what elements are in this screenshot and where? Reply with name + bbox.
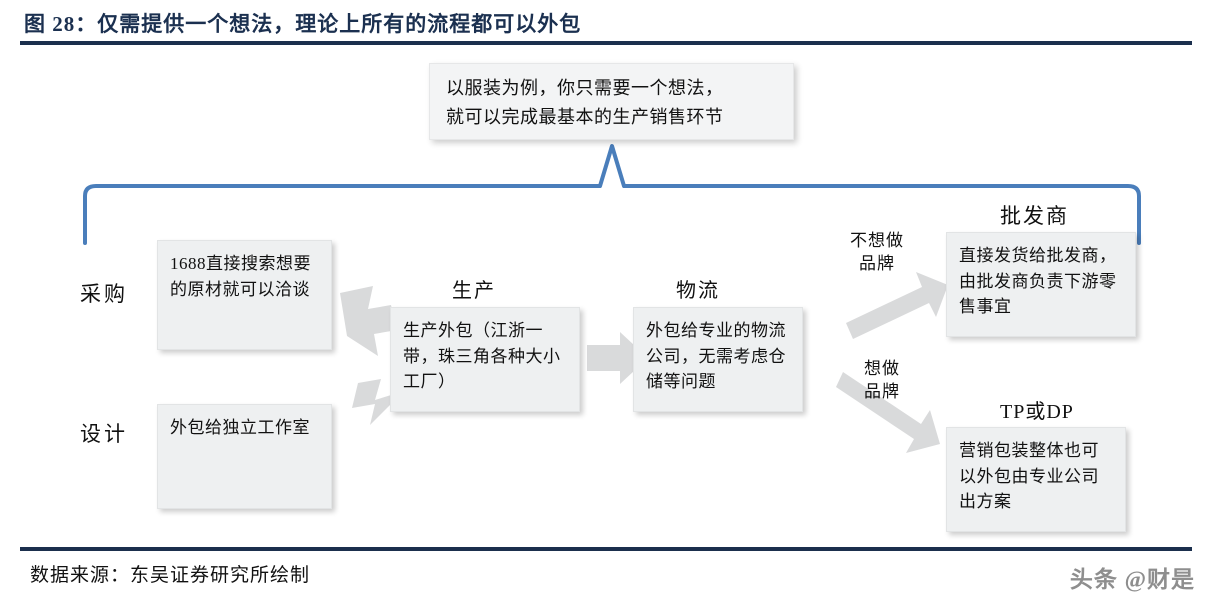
branch-label-no-brand-line-1: 不想做 <box>837 230 917 253</box>
title-divider <box>20 41 1192 45</box>
node-logistics-box: 外包给专业的物流公司，无需考虑仓储等问题 <box>633 307 803 412</box>
footer-divider <box>20 547 1192 551</box>
column-label-wholesaler: 批发商 <box>1000 200 1069 230</box>
arrow-logistics-to-wholesaler-icon <box>846 272 948 339</box>
source-note: 数据来源：东吴证券研究所绘制 <box>30 560 310 587</box>
column-label-tp-dp: TP或DP <box>1000 395 1074 424</box>
callout-line-2: 就可以完成最基本的生产销售环节 <box>446 103 777 132</box>
column-label-production: 生产 <box>452 274 496 303</box>
row-label-procurement: 采购 <box>80 278 128 308</box>
node-tp-dp-box: 营销包装整体也可以外包由专业公司出方案 <box>946 427 1126 532</box>
arrow-procurement-to-production-icon <box>340 286 397 356</box>
branch-label-want-brand-line-1: 想做 <box>847 358 917 381</box>
node-wholesaler-box: 直接发货给批发商，由批发商负责下游零售事宜 <box>946 232 1136 337</box>
node-design-box: 外包给独立工作室 <box>157 404 332 509</box>
node-procurement-box: 1688直接搜索想要的原材就可以洽谈 <box>157 240 332 350</box>
node-production-box: 生产外包（江浙一带，珠三角各种大小工厂） <box>390 307 580 412</box>
callout-line-1: 以服装为例，你只需要一个想法， <box>446 74 777 103</box>
watermark: 头条 @财是 <box>1070 560 1195 594</box>
branch-label-want-brand-line-2: 品牌 <box>847 381 917 404</box>
figure-root: 图 28：仅需提供一个想法，理论上所有的流程都可以外包 以服装为例，你只需要 <box>0 0 1211 610</box>
branch-label-want-brand: 想做 品牌 <box>847 358 917 404</box>
callout-box: 以服装为例，你只需要一个想法， 就可以完成最基本的生产销售环节 <box>429 63 794 140</box>
page-title: 图 28：仅需提供一个想法，理论上所有的流程都可以外包 <box>24 8 581 38</box>
column-label-logistics: 物流 <box>676 274 720 303</box>
branch-label-no-brand: 不想做 品牌 <box>837 230 917 276</box>
row-label-design: 设计 <box>80 418 128 448</box>
branch-label-no-brand-line-2: 品牌 <box>837 253 917 276</box>
scope-brace-icon <box>85 146 1139 243</box>
